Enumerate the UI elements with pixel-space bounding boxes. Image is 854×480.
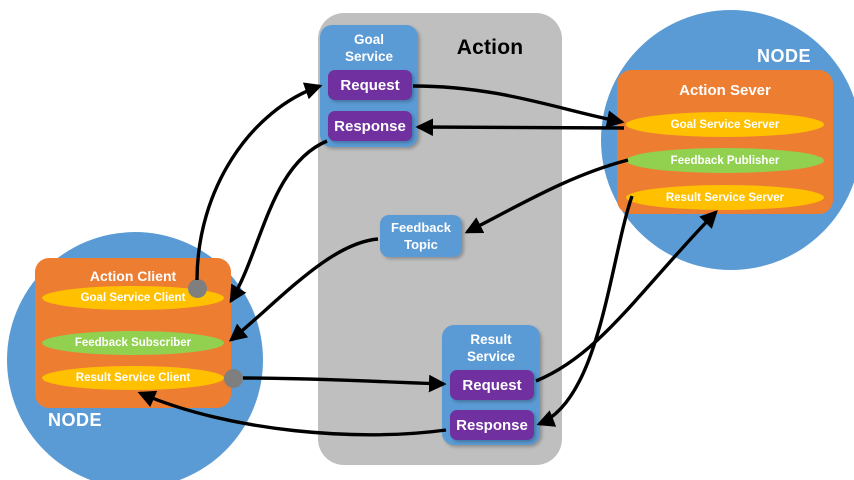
interface-feedback-publisher[interactable]: Feedback Publisher — [626, 148, 824, 173]
result-service-title-line1: Result — [470, 332, 511, 347]
connector-dot-goal-client — [188, 279, 207, 298]
interface-feedback-subscriber[interactable]: Feedback Subscriber — [42, 331, 224, 355]
node-client-label: NODE — [48, 410, 102, 431]
result-service-request[interactable]: Request — [450, 370, 534, 400]
action-container-label: Action — [430, 36, 550, 60]
goal-service-title-line1: Goal — [354, 32, 384, 47]
interface-result-service-server[interactable]: Result Service Server — [626, 185, 824, 210]
result-service-title-line2: Service — [467, 349, 515, 364]
action-server-title: Action Sever — [617, 82, 833, 99]
arrow-goal-client-to-request — [197, 86, 320, 280]
result-service-title: Result Service — [442, 331, 540, 365]
interface-goal-service-server[interactable]: Goal Service Server — [626, 112, 824, 137]
feedback-topic-box[interactable]: Feedback Topic — [380, 215, 462, 257]
goal-service-request[interactable]: Request — [328, 70, 412, 100]
feedback-topic-title: Feedback Topic — [391, 219, 451, 253]
diagram-canvas: Action Action Client Goal Service Client… — [0, 0, 854, 480]
result-service-response[interactable]: Response — [450, 410, 534, 440]
feedback-topic-title-line2: Topic — [404, 237, 438, 252]
feedback-topic-title-line1: Feedback — [391, 220, 451, 235]
connector-dot-result-client — [224, 369, 243, 388]
goal-service-title-line2: Service — [345, 49, 393, 64]
goal-service-response[interactable]: Response — [328, 111, 412, 141]
interface-result-service-client[interactable]: Result Service Client — [42, 366, 224, 390]
node-server-label: NODE — [757, 46, 811, 67]
goal-service-title: Goal Service — [320, 31, 418, 65]
arrow-goal-response-to-client — [231, 141, 327, 301]
